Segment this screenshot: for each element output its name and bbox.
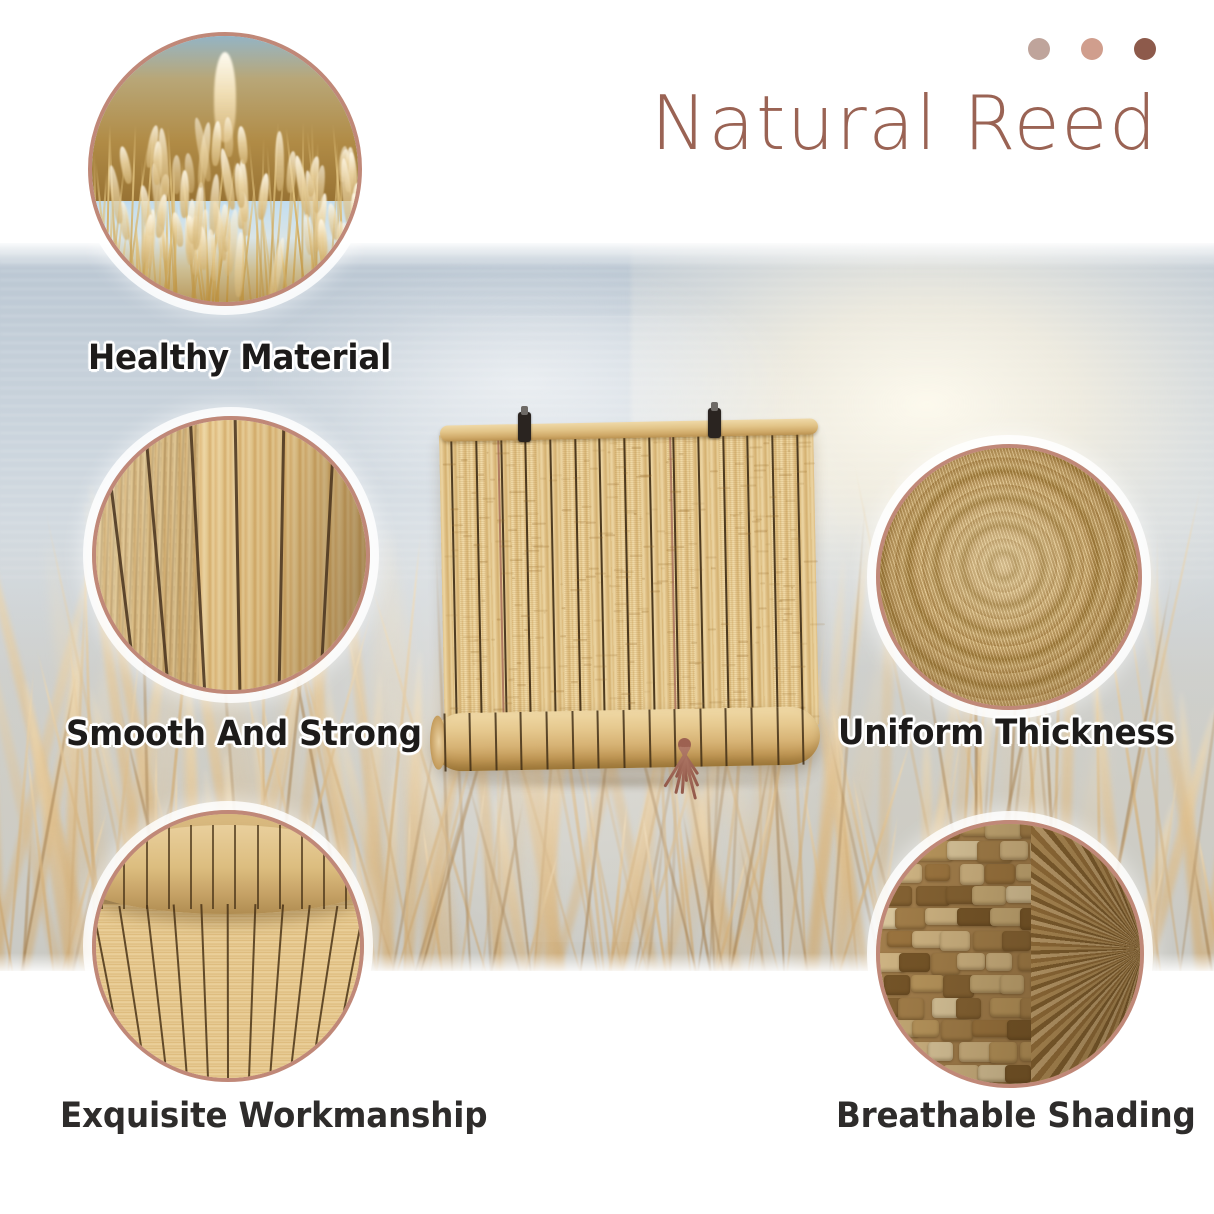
roll-thread [323, 825, 325, 909]
roll-thread [234, 825, 236, 909]
reed-fleck [796, 446, 811, 448]
mounting-bracket-left [518, 412, 531, 442]
reed-fleck [685, 440, 697, 442]
reed-fleck [444, 555, 458, 557]
reed-fleck [804, 561, 817, 563]
reed-fleck [536, 666, 551, 668]
blind-binding-thread [549, 433, 557, 729]
reed-fleck [638, 518, 643, 520]
blind-binding-thread [450, 435, 458, 731]
reed-fleck [584, 664, 592, 666]
reed-fleck [451, 707, 458, 709]
reed-fleck [500, 545, 513, 547]
reed-fleck [628, 663, 631, 665]
reed-fleck [752, 520, 760, 522]
reed-fleck [682, 676, 690, 678]
reed-bundle-shading [880, 824, 1140, 1084]
reed-fleck [480, 561, 488, 563]
reed-fleck [442, 463, 455, 465]
reed-fleck [584, 624, 589, 626]
reed-fleck [506, 464, 514, 466]
reed-fleck [504, 696, 519, 698]
reed-fleck [482, 600, 485, 602]
reed-fleck [571, 681, 578, 683]
reed-fleck [590, 537, 604, 539]
reed-fleck [491, 638, 495, 640]
reed-fleck [529, 565, 545, 567]
reed-fleck [692, 642, 698, 644]
reed-fleck [739, 512, 743, 514]
reed-fleck [527, 569, 542, 571]
blind-tassel-cord [660, 738, 712, 800]
reed-fleck [765, 543, 771, 545]
reed-fleck [711, 567, 716, 569]
reed-fleck [509, 559, 523, 561]
reed-fleck [668, 458, 674, 460]
reed-fleck [476, 677, 482, 679]
blind-binding-thread [771, 429, 779, 725]
reed-seed-head [336, 221, 345, 267]
reed-fleck [549, 480, 557, 482]
reed-fleck [678, 453, 683, 455]
reed-fleck [520, 443, 523, 445]
reed-fleck [763, 625, 770, 627]
reed-fleck [594, 620, 604, 622]
product-reed-roller-blind [432, 402, 824, 806]
reed-fleck [709, 702, 723, 704]
roll-thread [301, 825, 303, 909]
roll-binding-thread [494, 712, 497, 770]
reed-fleck [786, 500, 796, 502]
reed-fleck [542, 443, 549, 445]
reed-fleck [735, 463, 744, 465]
reed-fleck [498, 478, 503, 480]
reed-fleck [796, 483, 803, 485]
reed-fleck [590, 467, 597, 469]
reed-fleck [487, 452, 489, 454]
reed-fleck [726, 699, 734, 701]
reed-fleck [670, 581, 673, 583]
reed-fleck [589, 567, 599, 569]
reed-fleck [613, 569, 624, 571]
reed-fleck [792, 631, 801, 633]
roll-binding-thread [802, 707, 805, 765]
feature-label-smooth-and-strong: Smooth And Strong [66, 714, 422, 754]
reed-fleck [535, 636, 545, 638]
reed-fleck [778, 608, 790, 610]
reed-fleck [509, 678, 514, 680]
reed-fleck [616, 466, 626, 468]
reed-fleck [804, 462, 815, 464]
roll-binding-thread [546, 712, 549, 770]
reed-fleck [706, 557, 717, 559]
reed-fleck [473, 663, 476, 665]
reed-fleck [755, 642, 759, 644]
reed-fleck [773, 667, 780, 669]
product-shadow [446, 774, 814, 790]
reed-fleck [527, 513, 539, 515]
reed-fleck [715, 688, 718, 690]
reed-fleck [754, 469, 766, 471]
reed-fleck [604, 575, 611, 577]
reed-fleck [516, 662, 521, 664]
reed-fleck [450, 508, 458, 510]
reed-fleck [643, 545, 655, 547]
reed-fleck [617, 449, 624, 451]
reed-fleck [710, 470, 717, 472]
reed-fleck [652, 509, 657, 511]
reed-fleck [779, 491, 782, 493]
reed-fleck [452, 524, 463, 526]
reed-fleck [781, 681, 783, 683]
blind-rolled-bottom [431, 706, 820, 771]
reed-fleck [780, 599, 796, 601]
reed-fleck [471, 492, 478, 494]
reed-fleck [607, 484, 619, 486]
reed-fleck [722, 705, 733, 707]
reed-fleck [642, 578, 646, 580]
reed-fleck [688, 687, 696, 689]
reed-fleck [471, 660, 487, 662]
feature-label-uniform-thickness: Uniform Thickness [838, 713, 1175, 753]
reed-fleck [531, 522, 545, 524]
reed-fleck [501, 573, 514, 575]
reed-fleck [577, 633, 586, 635]
reed-fleck [609, 442, 618, 444]
reed-fleck [592, 449, 605, 451]
reed-fleck [765, 515, 778, 517]
reed-fleck [479, 479, 486, 481]
reed-fleck [523, 500, 535, 502]
decorative-dots [1028, 38, 1156, 60]
reed-fleck [667, 631, 676, 633]
reed-fleck [646, 513, 651, 515]
reed-fleck [512, 577, 515, 579]
reed-fleck [783, 619, 787, 621]
reed-fleck [708, 628, 716, 630]
reed-fleck [559, 707, 571, 709]
reed-fleck [636, 475, 651, 477]
reed-fleck [550, 474, 563, 476]
reed-fleck [616, 620, 623, 622]
reed-fleck [515, 604, 523, 606]
reed-fleck [619, 571, 633, 573]
reed-fleck [533, 545, 549, 547]
reed-fleck [516, 684, 525, 686]
reed-fleck [627, 613, 640, 615]
roll-thread [257, 825, 259, 909]
blind-binding-thread [598, 433, 606, 729]
infographic-canvas: Natural Reed Healthy Material Smooth And… [0, 0, 1214, 1214]
reed-fleck [577, 579, 587, 581]
reed-fleck [574, 521, 586, 523]
reed-fleck [770, 496, 776, 498]
reed-fleck [456, 476, 464, 478]
reed-fleck [701, 509, 706, 511]
roll-thread [146, 825, 148, 909]
reed-fleck [656, 441, 669, 443]
reed-fleck [721, 664, 735, 666]
reed-fleck [767, 439, 775, 441]
reed-fleck [496, 521, 505, 523]
blind-binding-thread [747, 430, 755, 726]
feature-label-exquisite-workmanship: Exquisite Workmanship [60, 1096, 487, 1136]
roll-binding-thread [520, 712, 523, 770]
reed-fleck [496, 519, 504, 521]
reed-fleck [670, 491, 681, 493]
reed-fleck [787, 450, 790, 452]
reed-fleck [764, 443, 769, 445]
roll-binding-thread [597, 711, 600, 769]
reed-fleck [594, 679, 607, 681]
reed-fleck [610, 654, 618, 656]
roll-binding-thread [648, 710, 651, 768]
reed-fleck [800, 642, 807, 644]
reed-fleck [776, 572, 782, 574]
reed-fleck [759, 608, 767, 610]
reed-fleck [783, 584, 795, 586]
reed-fleck [756, 626, 761, 628]
blind-binding-thread [697, 431, 705, 727]
reed-fleck [666, 549, 675, 551]
reed-fleck [573, 476, 581, 478]
reed-fleck [461, 459, 468, 461]
reed-fleck [503, 658, 505, 660]
reed-fleck [510, 491, 526, 493]
feature-image-breathable-shading [876, 820, 1144, 1088]
reed-fleck [609, 585, 621, 587]
reed-fleck [605, 534, 615, 536]
reed-roll-vignette [880, 448, 1138, 706]
reed-fleck [641, 610, 649, 612]
reed-fleck [749, 476, 763, 478]
reed-fleck [508, 668, 517, 670]
reed-fleck [750, 447, 763, 449]
roll-binding-thread [622, 710, 625, 768]
reed-fleck [671, 476, 674, 478]
reed-fleck [748, 510, 756, 512]
reed-fleck [773, 468, 783, 470]
reed-fleck [688, 662, 704, 664]
reed-fleck [753, 546, 757, 548]
roll-thread [212, 825, 214, 909]
reed-fleck [595, 654, 609, 656]
reed-fleck [482, 656, 487, 658]
reed-fleck [613, 610, 621, 612]
reed-fleck [606, 496, 618, 498]
reed-fleck [653, 583, 662, 585]
reed-fleck [770, 598, 774, 600]
reed-fleck [782, 692, 797, 694]
reed-fleck [688, 542, 698, 544]
feature-label-breathable-shading: Breathable Shading [836, 1096, 1196, 1136]
reed-fleck [740, 485, 755, 487]
reed-fleck [791, 587, 793, 589]
reed-fleck [512, 635, 525, 637]
reed-fleck [657, 530, 665, 532]
reed-fleck [544, 612, 546, 614]
reed-fleck [779, 474, 793, 476]
blind-screen [439, 428, 819, 731]
blind-binding-thread [722, 430, 730, 726]
feature-image-uniform-thickness [876, 444, 1142, 710]
feature-image-smooth-and-strong [92, 416, 370, 694]
reed-fleck [582, 506, 592, 508]
reed-fleck [487, 501, 494, 503]
reed-fleck [624, 530, 630, 532]
reed-fleck [482, 497, 495, 499]
reed-fleck [691, 587, 698, 589]
reed-fleck [463, 535, 472, 537]
reed-fleck [582, 657, 593, 659]
reed-fleck [661, 567, 665, 569]
reed-fleck [559, 665, 568, 667]
reed-fleck [738, 641, 748, 643]
reed-fleck [550, 690, 565, 692]
roll-binding-thread [776, 707, 779, 765]
reed-fleck [735, 526, 745, 528]
reed-fleck [758, 572, 769, 574]
reed-fleck [658, 564, 673, 566]
reed-fleck [463, 616, 475, 618]
mounting-bracket-right [708, 408, 721, 438]
reed-fleck [560, 583, 562, 585]
reed-fleck [570, 589, 582, 591]
dot-3-icon [1134, 38, 1156, 60]
reed-fleck [657, 580, 669, 582]
reed-fleck [791, 665, 805, 667]
reed-fleck [451, 549, 458, 551]
reed-fleck [523, 553, 527, 555]
reed-fleck [614, 603, 628, 605]
reed-fleck [669, 546, 684, 548]
reed-fleck [666, 461, 669, 463]
reed-fleck [609, 697, 625, 699]
reed-fleck [691, 502, 704, 504]
reed-fleck [717, 487, 730, 489]
reed-fleck [446, 614, 457, 616]
reed-fleck [508, 515, 524, 517]
reed-fleck [598, 581, 601, 583]
reed-fleck [669, 499, 673, 501]
reed-fleck [532, 537, 542, 539]
blind-binding-thread [796, 429, 804, 725]
reed-fleck [530, 455, 535, 457]
reed-fleck [594, 665, 606, 667]
reed-fleck [781, 442, 797, 444]
reed-fleck [618, 647, 622, 649]
reed-fleck [733, 698, 747, 700]
reed-fleck [757, 550, 769, 552]
reed-fleck [477, 474, 484, 476]
page-title: Natural Reed [651, 86, 1158, 161]
reed-fleck [799, 441, 812, 443]
reed-fleck [644, 690, 650, 692]
reed-fleck [631, 446, 642, 448]
reed-fleck [784, 612, 793, 614]
dot-1-icon [1028, 38, 1050, 60]
reed-fleck [573, 639, 587, 641]
roll-thread [101, 825, 103, 909]
reed-fleck [586, 576, 596, 578]
reed-fleck [797, 470, 807, 472]
reed-fleck [630, 555, 643, 557]
roll-thread [345, 825, 347, 909]
reed-fleck [809, 623, 824, 625]
reed-fleck [807, 581, 817, 583]
reed-fleck [628, 661, 634, 663]
reed-fleck [737, 677, 749, 679]
reed-fleck [471, 498, 478, 500]
reed-fleck [608, 451, 611, 453]
blind-binding-thread [623, 432, 631, 728]
dot-2-icon [1081, 38, 1103, 60]
reed-fleck [495, 452, 509, 454]
reed-fleck [466, 696, 471, 698]
reed-fleck [790, 529, 796, 531]
reed-fleck [562, 509, 572, 511]
roll-thread [279, 825, 281, 909]
reed-fleck [468, 640, 478, 642]
reed-fleck [561, 479, 570, 481]
reed-fleck [689, 568, 704, 570]
roll-thread [190, 825, 192, 909]
reed-fleck [760, 582, 766, 584]
reed-fleck [687, 623, 699, 625]
reed-fleck [505, 703, 513, 705]
roll-thread [168, 825, 170, 909]
reed-fleck [560, 635, 566, 637]
reed-fleck [452, 531, 468, 533]
reed-fleck [490, 479, 496, 481]
reed-fleck [733, 691, 747, 693]
reed-fleck [565, 646, 578, 648]
reed-fleck [540, 478, 546, 480]
roll-binding-thread [469, 713, 472, 771]
roll-binding-thread [725, 708, 728, 766]
reed-fleck [470, 651, 479, 653]
roll-binding-thread [571, 711, 574, 769]
reed-fleck [621, 693, 631, 695]
reed-fleck [561, 608, 566, 610]
reed-fleck [586, 522, 595, 524]
reed-fleck [477, 516, 489, 518]
feature-image-healthy-material [88, 32, 362, 306]
reed-fleck [524, 629, 528, 631]
reed-fleck [496, 540, 511, 542]
reed-fleck [625, 643, 637, 645]
reed-fleck [736, 655, 748, 657]
reed-fleck [487, 576, 490, 578]
roll-binding-thread [750, 708, 753, 766]
reed-fleck [754, 464, 768, 466]
feature-image-exquisite-workmanship [92, 810, 364, 1082]
reed-fleck [521, 615, 530, 617]
reed-fleck [616, 576, 631, 578]
reed-fleck [583, 460, 589, 462]
reed-fleck [782, 558, 787, 560]
reed-fleck [524, 549, 539, 551]
feature-label-healthy-material: Healthy Material [88, 338, 391, 378]
reed-fleck [493, 708, 504, 710]
roll-thread [123, 825, 125, 909]
reed-fleck [466, 578, 475, 580]
reed-fleck [508, 529, 518, 531]
reed-fleck [689, 517, 692, 519]
